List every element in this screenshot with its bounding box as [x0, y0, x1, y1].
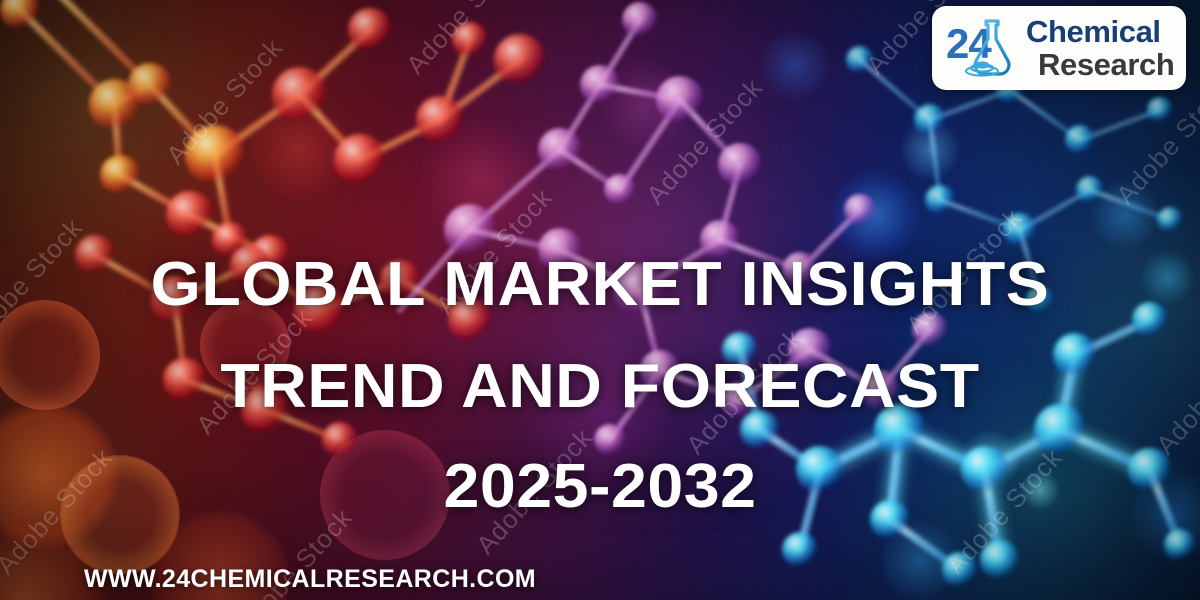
website-url-text: WWW.24CHEMICALRESEARCH.COM: [84, 565, 536, 593]
headline-line-3: 2025-2032: [0, 450, 1200, 524]
brand-logo[interactable]: 24 Chemical: [932, 6, 1186, 90]
watermark-text: Adobe Stock: [400, 0, 529, 81]
logo-word-research: Research: [1038, 49, 1174, 80]
headline-line-2: TREND AND FORECAST: [0, 350, 1200, 424]
watermark-text: Adobe Stock: [160, 32, 289, 170]
logo-wordmark: Chemical Research: [1026, 16, 1174, 80]
logo-mark: 24: [946, 15, 1024, 81]
watermark-text: Adobe Stock: [1110, 72, 1200, 210]
marketing-banner: Adobe Stock Adobe Stock Adobe Stock Adob…: [0, 0, 1200, 600]
headline-line-1: GLOBAL MARKET INSIGHTS: [0, 248, 1200, 322]
flask-icon: [946, 15, 1024, 81]
headline-block: GLOBAL MARKET INSIGHTS TREND AND FORECAS…: [0, 248, 1200, 524]
logo-word-chemical: Chemical: [1026, 16, 1174, 47]
website-url-block: WWW.24CHEMICALRESEARCH.COM: [0, 565, 1200, 594]
watermark-text: Adobe Stock: [640, 72, 769, 210]
